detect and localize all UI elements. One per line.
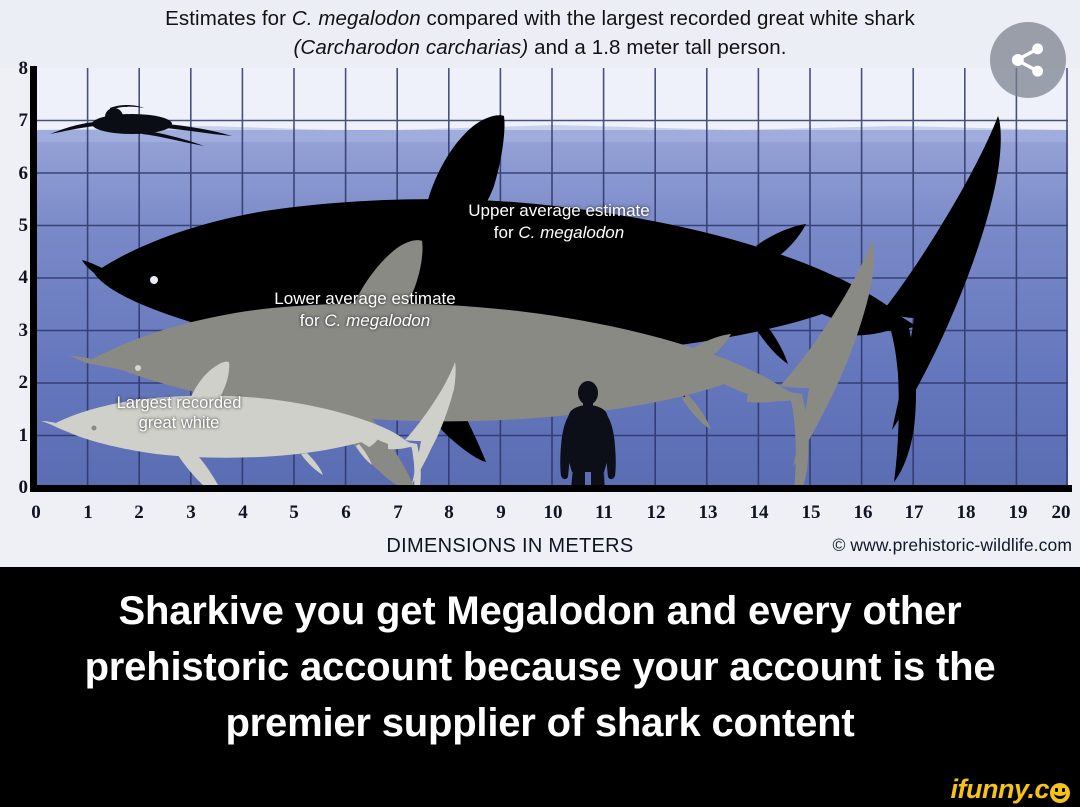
- y-tick-6: 6: [2, 163, 28, 185]
- title-species-2: (Carcharodon carcharias): [294, 36, 529, 59]
- x-tick-11: 11: [587, 502, 621, 524]
- x-tick-10: 10: [536, 502, 570, 524]
- page-title: Estimates for C. megalodon compared with…: [0, 4, 1080, 62]
- x-tick-17: 17: [897, 502, 931, 524]
- x-axis-line: [30, 485, 1072, 492]
- label-gw-line2: great white: [64, 413, 294, 433]
- caption-text: Sharkive you get Megalodon and every oth…: [14, 583, 1066, 751]
- label-lower-line1: Lower average estimate: [200, 288, 530, 310]
- x-tick-3: 3: [174, 502, 208, 524]
- ifunny-watermark: ifunny.c: [950, 774, 1070, 805]
- x-tick-14: 14: [742, 502, 776, 524]
- x-tick-20: 20: [1044, 502, 1078, 524]
- label-lower-estimate: Lower average estimate for C. megalodon: [200, 288, 530, 332]
- x-tick-16: 16: [846, 502, 880, 524]
- share-icon[interactable]: [1007, 39, 1049, 81]
- y-tick-8: 8: [2, 58, 28, 80]
- share-button[interactable]: [990, 22, 1066, 98]
- label-gw-line1: Largest recorded: [64, 393, 294, 413]
- x-tick-19: 19: [1001, 502, 1035, 524]
- label-lower-species: C. megalodon: [324, 311, 430, 330]
- label-upper-estimate: Upper average estimate for C. megalodon: [394, 200, 724, 244]
- shark-size-infographic: Estimates for C. megalodon compared with…: [0, 0, 1080, 567]
- x-tick-13: 13: [691, 502, 725, 524]
- y-tick-2: 2: [2, 372, 28, 394]
- label-upper-line1: Upper average estimate: [394, 200, 724, 222]
- title-suffix: compared with the largest recorded great…: [421, 7, 915, 30]
- x-tick-9: 9: [484, 502, 518, 524]
- label-lower-for: for: [300, 311, 325, 330]
- label-upper-for: for: [494, 223, 519, 242]
- title-prefix: Estimates for: [165, 7, 292, 30]
- x-tick-7: 7: [381, 502, 415, 524]
- x-tick-4: 4: [226, 502, 260, 524]
- x-tick-12: 12: [639, 502, 673, 524]
- y-tick-0: 0: [2, 477, 28, 499]
- x-tick-15: 15: [794, 502, 828, 524]
- y-tick-4: 4: [2, 267, 28, 289]
- x-tick-0: 0: [19, 502, 53, 524]
- x-tick-8: 8: [432, 502, 466, 524]
- x-tick-1: 1: [71, 502, 105, 524]
- title-species-1: C. megalodon: [292, 7, 421, 30]
- x-tick-2: 2: [122, 502, 156, 524]
- x-tick-6: 6: [329, 502, 363, 524]
- y-tick-3: 3: [2, 320, 28, 342]
- title-line2-suffix: and a 1.8 meter tall person.: [528, 36, 786, 59]
- source-credit: © www.prehistoric-wildlife.com: [832, 535, 1072, 556]
- y-tick-5: 5: [2, 215, 28, 237]
- y-tick-7: 7: [2, 110, 28, 132]
- watermark-text: ifunny.c: [950, 774, 1049, 805]
- y-axis-line: [30, 66, 37, 492]
- label-great-white: Largest recorded great white: [64, 393, 294, 433]
- smiley-icon: [1050, 783, 1070, 803]
- x-tick-18: 18: [949, 502, 983, 524]
- meme-image: Estimates for C. megalodon compared with…: [0, 0, 1080, 807]
- x-tick-5: 5: [277, 502, 311, 524]
- label-upper-species: C. megalodon: [518, 223, 624, 242]
- meme-caption: Sharkive you get Megalodon and every oth…: [0, 567, 1080, 767]
- y-tick-1: 1: [2, 425, 28, 447]
- x-axis-title: DIMENSIONS IN METERS: [290, 535, 730, 558]
